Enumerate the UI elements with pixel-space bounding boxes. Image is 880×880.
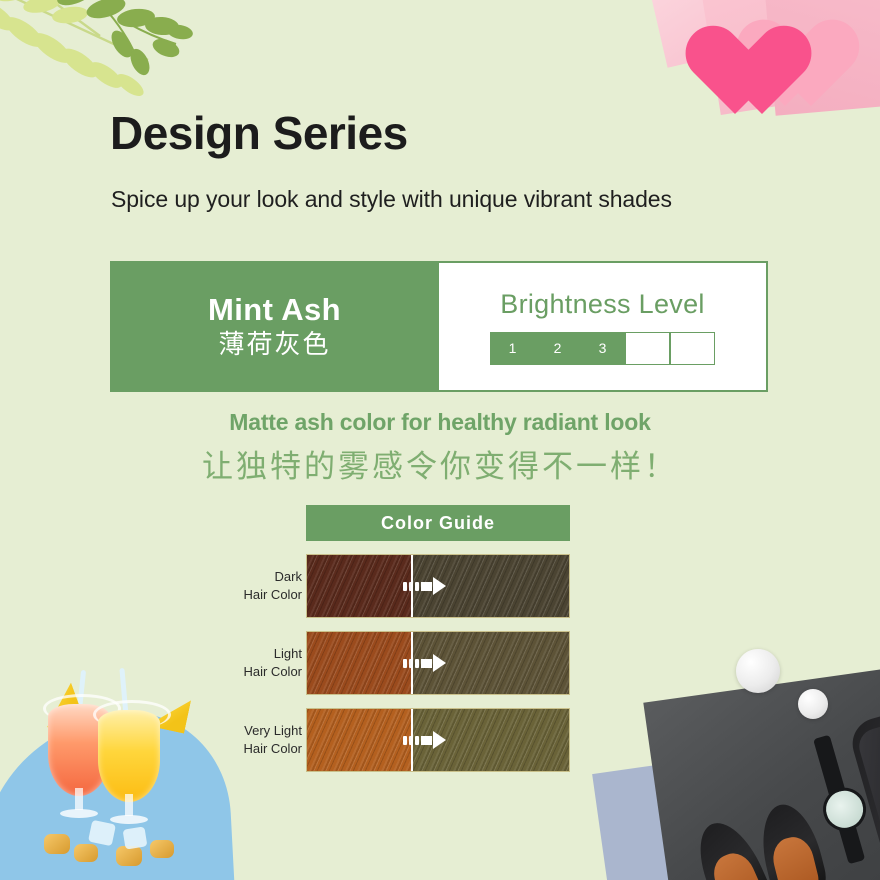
color-guide-row: Dark Hair Color [306, 554, 570, 618]
label-line-1: Light [274, 645, 302, 663]
color-guide-row-label: Light Hair Color [152, 631, 302, 695]
color-guide-row: Light Hair Color [306, 631, 570, 695]
hair-color-swatch [306, 554, 570, 618]
brightness-cell-3[interactable]: 3 [580, 332, 625, 365]
blue-paper-sheet [592, 757, 732, 880]
hair-color-swatch [306, 631, 570, 695]
poster-canvas: Design Series Spice up your look and sty… [0, 0, 880, 880]
paper-hearts-decoration [650, 0, 880, 132]
ice-cube [123, 826, 148, 849]
pink-paper-sheet [697, 0, 880, 115]
pink-paper-sheet [761, 0, 880, 116]
label-line-1: Very Light [244, 722, 302, 740]
wristwatch-band [813, 735, 865, 865]
brightness-level-scale[interactable]: 1 2 3 [490, 332, 715, 365]
brightness-level-title: Brightness Level [500, 289, 704, 320]
tagline-en: Matte ash color for healthy radiant look [0, 409, 880, 436]
swatch-before [307, 709, 411, 771]
label-line-2: Hair Color [243, 740, 302, 758]
brightness-level-panel: Brightness Level 1 2 3 [439, 261, 768, 392]
color-guide-row-label: Dark Hair Color [152, 554, 302, 618]
swatch-before [307, 555, 411, 617]
brightness-cell-2[interactable]: 2 [535, 332, 580, 365]
color-guide-header: Color Guide [306, 505, 570, 541]
label-line-1: Dark [275, 568, 302, 586]
heart-shape-back [758, 22, 850, 114]
leather-jacket [846, 693, 880, 880]
heart-shape-front [708, 28, 802, 122]
brightness-cell-5[interactable] [670, 332, 715, 365]
shade-name-zh: 薄荷灰色 [218, 331, 330, 360]
garnish-rock [116, 846, 142, 866]
product-shade-card: Mint Ash 薄荷灰色 Brightness Level 1 2 3 [110, 261, 768, 392]
brightness-cell-1[interactable]: 1 [490, 332, 535, 365]
hair-color-swatch [306, 708, 570, 772]
pink-paper-sheet [648, 0, 814, 68]
arrow-right-icon [403, 577, 446, 595]
wristwatch-face [818, 783, 871, 836]
cocktail-glass-yellow [98, 684, 160, 824]
swatch-before [307, 632, 411, 694]
high-heel-shoe [753, 798, 831, 880]
brightness-cell-4[interactable] [625, 332, 670, 365]
color-guide-row-label: Very Light Hair Color [152, 708, 302, 772]
straw [75, 670, 86, 730]
label-line-2: Hair Color [243, 663, 302, 681]
shade-name-en: Mint Ash [208, 293, 341, 327]
garnish-rock [44, 834, 70, 854]
page-subtitle: Spice up your look and style with unique… [111, 186, 672, 213]
high-heel-shoe [686, 813, 776, 880]
shade-name-panel: Mint Ash 薄荷灰色 [110, 261, 439, 392]
straw [119, 668, 129, 728]
ice-cube [88, 820, 116, 847]
color-guide-row: Very Light Hair Color [306, 708, 570, 772]
cocktail-glass-red [48, 678, 110, 818]
arrow-right-icon [403, 731, 446, 749]
arrow-right-icon [403, 654, 446, 672]
label-line-2: Hair Color [243, 586, 302, 604]
tagline-zh: 让独特的雾感令你变得不一样！ [0, 441, 880, 486]
color-guide: Color Guide Dark Hair Color Light Hair C… [306, 505, 570, 772]
page-title: Design Series [110, 110, 408, 156]
pearl-bead [736, 649, 780, 693]
garnish-rock [74, 844, 98, 862]
pearl-bead [798, 689, 828, 719]
pineapple-garnish [35, 683, 82, 728]
garnish-rock [150, 840, 174, 858]
fashion-flatlay-decoration [630, 665, 880, 880]
slate-backdrop [643, 665, 880, 880]
